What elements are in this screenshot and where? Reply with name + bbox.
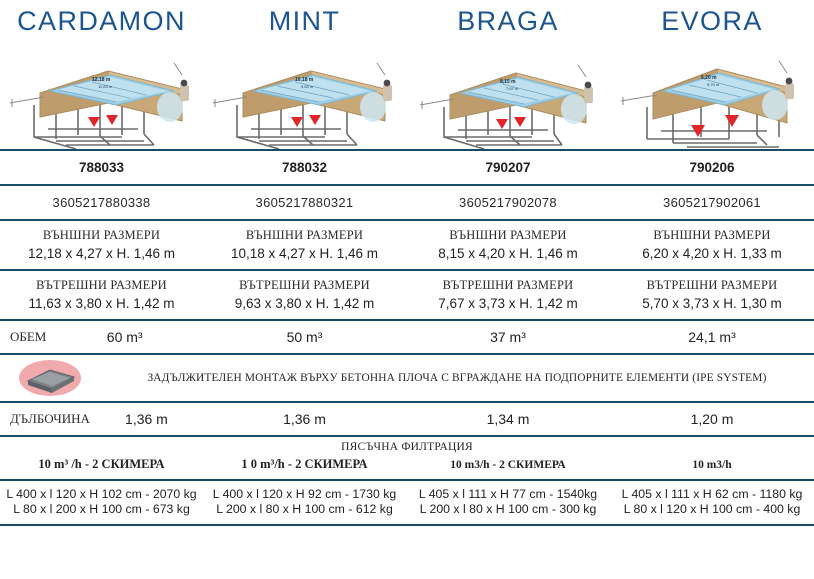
package-weight-cell: L 400 x l 120 x H 92 cm - 1730 kg L 200 … xyxy=(203,480,406,525)
concrete-note-cell: ЗАДЪЛЖИТЕЛЕН МОНТАЖ ВЪРХУ БЕТОННА ПЛОЧА … xyxy=(0,354,814,402)
pool-length-label: 6,20 m xyxy=(701,75,717,81)
internal-dimensions-label: ВЪТРЕШНИ РАЗМЕРИ xyxy=(610,278,814,293)
internal-dimensions-value: 9,63 x 3,80 x H. 1,42 m xyxy=(203,296,406,311)
article-number-row: 788033 788032 790207 790206 xyxy=(0,150,814,185)
filtration-row: 10 m³ /h - 2 СКИМЕРА 1 0 m³/h - 2 СКИМЕР… xyxy=(0,454,814,480)
external-dimensions-cell: ВЪНШНИ РАЗМЕРИ 8,15 x 4,20 x H. 1,46 m xyxy=(406,220,610,270)
article-number: 790206 xyxy=(610,150,814,185)
ean-code: 3605217880321 xyxy=(203,185,406,220)
internal-dimensions-label: ВЪТРЕШНИ РАЗМЕРИ xyxy=(406,278,610,293)
external-dimensions-value: 10,18 x 4,27 x H. 1,46 m xyxy=(203,246,406,261)
external-dimensions-cell: ВЪНШНИ РАЗМЕРИ 10,18 x 4,27 x H. 1,46 m xyxy=(203,220,406,270)
volume-first-cell: ОБЕМ 60 m³ xyxy=(0,320,203,354)
depth-first-cell: ДЪЛБОЧИНА 1,36 m xyxy=(0,402,203,436)
package-weights-row: L 400 x l 120 x H 102 cm - 2070 kg L 80 … xyxy=(0,480,814,525)
internal-dimensions-cell: ВЪТРЕШНИ РАЗМЕРИ 11,63 x 3,80 x H. 1,42 … xyxy=(0,270,203,320)
external-dimensions-row: ВЪНШНИ РАЗМЕРИ 12,18 x 4,27 x H. 1,46 m … xyxy=(0,220,814,270)
pool-inner-length-label: 11,63 m xyxy=(98,84,113,89)
arrow-markers xyxy=(496,117,526,129)
product-header-row: CARDAMON xyxy=(0,0,814,150)
filtration-value: 1 0 m³/h - 2 СКИМЕРА xyxy=(203,454,406,480)
pool-length-label: 8,15 m xyxy=(500,79,516,85)
package-weight-cell: L 405 x l 111 x H 62 cm - 1180 kg L 80 x… xyxy=(610,480,814,525)
external-dimensions-value: 12,18 x 4,27 x H. 1,46 m xyxy=(0,246,203,261)
pool-illustration-braga: 8,15 m 7,67 m xyxy=(406,41,610,149)
pool-diagram-svg: 10,18 m 9,63 m xyxy=(207,45,403,149)
package-weight-line-1: L 400 x l 120 x H 92 cm - 1730 kg xyxy=(203,487,406,502)
pool-inner-length-label: 5,70 m xyxy=(707,82,720,87)
specifications-table: CARDAMON xyxy=(0,0,814,526)
depth-value: 1,20 m xyxy=(610,402,814,436)
internal-dimensions-row: ВЪТРЕШНИ РАЗМЕРИ 11,63 x 3,80 x H. 1,42 … xyxy=(0,270,814,320)
filtration-value: 10 m3/h xyxy=(610,454,814,480)
product-header-braga: BRAGA xyxy=(406,0,610,150)
package-weight-cell: L 405 x l 111 x H 77 cm - 1540kg L 200 x… xyxy=(406,480,610,525)
product-title: EVORA xyxy=(610,0,814,41)
package-weight-line-1: L 400 x l 120 x H 102 cm - 2070 kg xyxy=(0,487,203,502)
pool-illustration-cardamon: 12,18 m 11,63 m xyxy=(0,41,203,149)
pool-illustration-evora: 6,20 m 5,70 m xyxy=(610,41,814,149)
pool-length-label: 10,18 m xyxy=(295,77,314,83)
article-number: 788032 xyxy=(203,150,406,185)
volume-value: 50 m³ xyxy=(203,320,406,354)
arrow-markers xyxy=(691,115,739,137)
internal-dimensions-value: 7,67 x 3,73 x H. 1,42 m xyxy=(406,296,610,311)
external-dimensions-cell: ВЪНШНИ РАЗМЕРИ 6,20 x 4,20 x H. 1,33 m xyxy=(610,220,814,270)
external-dimensions-value: 8,15 x 4,20 x H. 1,46 m xyxy=(406,246,610,261)
depth-value: 1,36 m xyxy=(90,411,203,427)
pool-inner-length-label: 9,63 m xyxy=(301,84,314,89)
internal-dimensions-cell: ВЪТРЕШНИ РАЗМЕРИ 7,67 x 3,73 x H. 1,42 m xyxy=(406,270,610,320)
depth-row: ДЪЛБОЧИНА 1,36 m 1,36 m 1,34 m 1,20 m xyxy=(0,402,814,436)
pool-length-label: 12,18 m xyxy=(92,77,111,83)
concrete-note-text: ЗАДЪЛЖИТЕЛЕН МОНТАЖ ВЪРХУ БЕТОННА ПЛОЧА … xyxy=(100,372,814,384)
article-number: 790207 xyxy=(406,150,610,185)
package-weight-line-2: L 80 x l 200 x H 100 cm - 673 kg xyxy=(0,502,203,517)
article-number: 788033 xyxy=(0,150,203,185)
concrete-slab-icon xyxy=(0,359,100,397)
volume-label: ОБЕМ xyxy=(0,329,46,345)
pool-diagram-svg: 12,18 m 11,63 m xyxy=(4,45,200,149)
external-dimensions-label: ВЪНШНИ РАЗМЕРИ xyxy=(406,228,610,243)
package-weight-line-1: L 405 x l 111 x H 77 cm - 1540kg xyxy=(406,487,610,502)
concrete-slab-note-row: ЗАДЪЛЖИТЕЛЕН МОНТАЖ ВЪРХУ БЕТОННА ПЛОЧА … xyxy=(0,354,814,402)
pool-illustration-mint: 10,18 m 9,63 m xyxy=(203,41,406,149)
filtration-value: 10 m3/h - 2 СКИМЕРА xyxy=(406,454,610,480)
product-title: CARDAMON xyxy=(0,0,203,41)
volume-value: 24,1 m³ xyxy=(610,320,814,354)
package-weight-line-2: L 200 x l 80 x H 100 cm - 612 kg xyxy=(203,502,406,517)
internal-dimensions-value: 11,63 x 3,80 x H. 1,42 m xyxy=(0,296,203,311)
volume-row: ОБЕМ 60 m³ 50 m³ 37 m³ 24,1 m³ xyxy=(0,320,814,354)
internal-dimensions-value: 5,70 x 3,73 x H. 1,30 m xyxy=(610,296,814,311)
package-weight-line-2: L 80 x l 120 x H 100 cm - 400 kg xyxy=(610,502,814,517)
product-comparison-sheet: CARDAMON xyxy=(0,0,814,579)
arrow-markers xyxy=(88,115,118,127)
pool-diagram-svg: 6,20 m 5,70 m xyxy=(617,45,807,149)
package-weight-line-1: L 405 x l 111 x H 62 cm - 1180 kg xyxy=(610,487,814,502)
filtration-title-row: ПЯСЪЧНА ФИЛТРАЦИЯ xyxy=(0,436,814,454)
depth-value: 1,34 m xyxy=(406,402,610,436)
ean-code: 3605217902061 xyxy=(610,185,814,220)
external-dimensions-cell: ВЪНШНИ РАЗМЕРИ 12,18 x 4,27 x H. 1,46 m xyxy=(0,220,203,270)
product-title: BRAGA xyxy=(406,0,610,41)
external-dimensions-value: 6,20 x 4,20 x H. 1,33 m xyxy=(610,246,814,261)
ean-code: 3605217902078 xyxy=(406,185,610,220)
internal-dimensions-label: ВЪТРЕШНИ РАЗМЕРИ xyxy=(0,278,203,293)
volume-value: 60 m³ xyxy=(46,329,203,345)
depth-value: 1,36 m xyxy=(203,402,406,436)
internal-dimensions-cell: ВЪТРЕШНИ РАЗМЕРИ 5,70 x 3,73 x H. 1,30 m xyxy=(610,270,814,320)
external-dimensions-label: ВЪНШНИ РАЗМЕРИ xyxy=(610,228,814,243)
arrow-markers xyxy=(291,115,321,127)
package-weight-line-2: L 200 x l 80 x H 100 cm - 300 kg xyxy=(406,502,610,517)
external-dimensions-label: ВЪНШНИ РАЗМЕРИ xyxy=(203,228,406,243)
volume-value: 37 m³ xyxy=(406,320,610,354)
pool-diagram-svg: 8,15 m 7,67 m xyxy=(410,45,606,149)
pool-inner-length-label: 7,67 m xyxy=(506,86,519,91)
depth-label: ДЪЛБОЧИНА xyxy=(0,411,90,427)
product-header-cardamon: CARDAMON xyxy=(0,0,203,150)
ean-code: 3605217880338 xyxy=(0,185,203,220)
filtration-title: ПЯСЪЧНА ФИЛТРАЦИЯ xyxy=(0,436,814,454)
product-header-evora: EVORA xyxy=(610,0,814,150)
external-dimensions-label: ВЪНШНИ РАЗМЕРИ xyxy=(0,228,203,243)
ean-row: 3605217880338 3605217880321 360521790207… xyxy=(0,185,814,220)
internal-dimensions-cell: ВЪТРЕШНИ РАЗМЕРИ 9,63 x 3,80 x H. 1,42 m xyxy=(203,270,406,320)
product-header-mint: MINT xyxy=(203,0,406,150)
product-title: MINT xyxy=(203,0,406,41)
filtration-value: 10 m³ /h - 2 СКИМЕРА xyxy=(0,454,203,480)
internal-dimensions-label: ВЪТРЕШНИ РАЗМЕРИ xyxy=(203,278,406,293)
package-weight-cell: L 400 x l 120 x H 102 cm - 2070 kg L 80 … xyxy=(0,480,203,525)
